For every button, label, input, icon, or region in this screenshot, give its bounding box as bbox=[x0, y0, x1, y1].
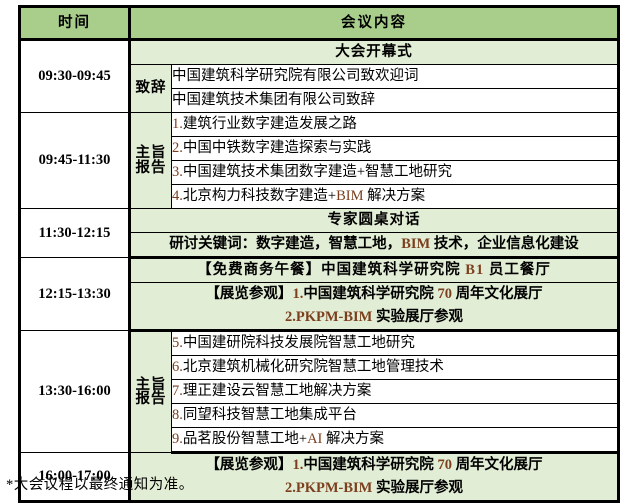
agenda-item: 5.中国建研院科技发展院智慧工地研究 bbox=[172, 331, 619, 356]
time-cell-1130: 11:30-12:15 bbox=[20, 209, 130, 258]
conference-agenda-table: 时间 会议内容 09:30-09:45 大会开幕式 致辞 中国建筑科学研究院有限… bbox=[18, 5, 620, 503]
agenda-item: 6.北京建筑机械化研究院智慧工地管理技术 bbox=[172, 356, 619, 380]
role-cell-keynote-afternoon: 主旨报告 bbox=[130, 331, 172, 453]
section-title-roundtable: 专家圆桌对话 bbox=[130, 209, 619, 233]
agenda-item: 3.中国建筑技术集团数字建造+智慧工地研究 bbox=[172, 161, 619, 185]
time-cell-0930: 09:30-09:45 bbox=[20, 40, 130, 113]
time-cell-0945: 09:45-11:30 bbox=[20, 113, 130, 209]
role-line-2: 报告 bbox=[136, 160, 167, 176]
exhibition-info-evening: 【展览参观】1.中国建筑科学研究院 70 周年文化展厅 2.PKPM-BIM 实… bbox=[130, 453, 619, 502]
roundtable-keywords: 研讨关键词：数字建造，智慧工地，BIM 技术，企业信息化建设 bbox=[130, 233, 619, 258]
time-cell-1215: 12:15-13:30 bbox=[20, 258, 130, 331]
header-cell-time: 时间 bbox=[20, 7, 130, 40]
agenda-item: 2.中国中铁数字建造探索与实践 bbox=[172, 137, 619, 161]
section-title-opening-ceremony: 大会开幕式 bbox=[130, 40, 619, 65]
agenda-item: 1.建筑行业数字建造发展之路 bbox=[172, 113, 619, 137]
footnote-text: *大会议程以最终通知为准。 bbox=[6, 473, 194, 494]
table-row-keynote-1: 09:45-11:30 主旨报告 1.建筑行业数字建造发展之路 bbox=[20, 113, 619, 137]
table-row-afternoon-1: 13:30-16:00 主旨报告 5.中国建研院科技发展院智慧工地研究 bbox=[20, 331, 619, 356]
role-cell-keynote-morning: 主旨报告 bbox=[130, 113, 172, 209]
exhibition-line-1: 【展览参观】1.中国建筑科学研究院 70 周年文化展厅 bbox=[131, 454, 617, 477]
exhibition-line-1: 【展览参观】1.中国建筑科学研究院 70 周年文化展厅 bbox=[131, 283, 617, 306]
table-header-row: 时间 会议内容 bbox=[20, 7, 619, 40]
agenda-item: 4.北京构力科技数字建造+BIM 解决方案 bbox=[172, 185, 619, 209]
agenda-item: 中国建筑技术集团有限公司致辞 bbox=[172, 89, 619, 113]
time-cell-1330: 13:30-16:00 bbox=[20, 331, 130, 453]
exhibition-line-2: 2.PKPM-BIM 实验展厅参观 bbox=[131, 306, 617, 329]
table-row-roundtable-title: 11:30-12:15 专家圆桌对话 bbox=[20, 209, 619, 233]
agenda-item: 中国建筑科学研究院有限公司致欢迎词 bbox=[172, 65, 619, 89]
table-row-opening-title: 09:30-09:45 大会开幕式 bbox=[20, 40, 619, 65]
header-cell-content: 会议内容 bbox=[130, 7, 619, 40]
agenda-page: 时间 会议内容 09:30-09:45 大会开幕式 致辞 中国建筑科学研究院有限… bbox=[0, 5, 631, 500]
lunch-info: 【免费商务午餐】中国建筑科学研究院 B1 员工餐厅 bbox=[130, 258, 619, 283]
exhibition-info-noon: 【展览参观】1.中国建筑科学研究院 70 周年文化展厅 2.PKPM-BIM 实… bbox=[130, 283, 619, 331]
agenda-item: 7.理正建设云智慧工地解决方案 bbox=[172, 380, 619, 404]
agenda-item: 9.品茗股份智慧工地+AI 解决方案 bbox=[172, 428, 619, 453]
agenda-item: 8.同望科技智慧工地集成平台 bbox=[172, 404, 619, 428]
role-cell-speech: 致辞 bbox=[130, 65, 172, 113]
exhibition-line-2: 2.PKPM-BIM 实验展厅参观 bbox=[131, 477, 617, 500]
table-row-lunch: 12:15-13:30 【免费商务午餐】中国建筑科学研究院 B1 员工餐厅 bbox=[20, 258, 619, 283]
role-line-2: 报告 bbox=[136, 391, 167, 407]
